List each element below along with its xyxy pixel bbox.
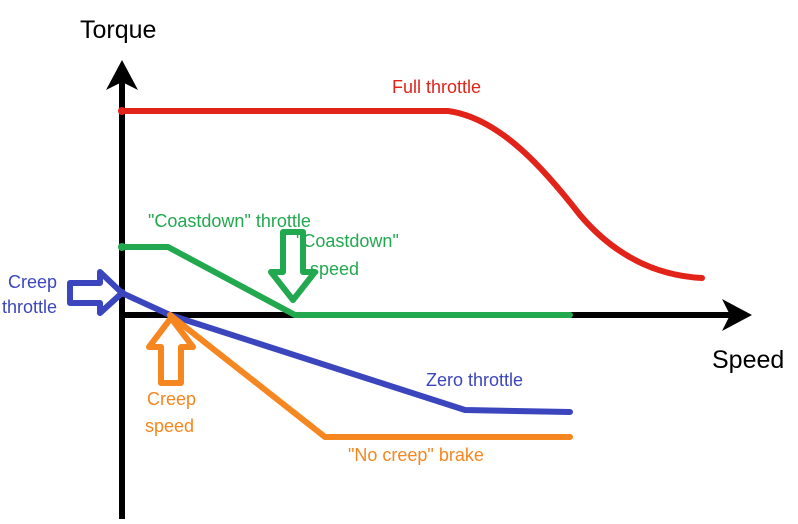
annotation-label-coastdown-speed-line2: speed: [310, 259, 359, 279]
annotation-label-creep-throttle-line2: throttle: [2, 297, 57, 317]
series-start-dot-full-throttle: [118, 107, 126, 115]
series-label-zero-throttle: Zero throttle: [426, 370, 523, 390]
annotation-label-coastdown-speed-line1: "Coastdown": [296, 231, 399, 251]
annotation-label-creep-speed-line1: Creep: [147, 389, 196, 409]
series-label-full-throttle: Full throttle: [392, 77, 481, 97]
x-axis-title: Speed: [712, 346, 784, 374]
annotation-label-creep-speed-line2: speed: [145, 416, 194, 436]
annotation-label-creep-throttle-line1: Creep: [8, 272, 57, 292]
annotation-creep-throttle: Creep throttle: [2, 272, 122, 317]
chart-canvas: Torque Speed Full throttle "Coastdown" t…: [0, 0, 798, 524]
y-axis-title: Torque: [80, 16, 156, 44]
series-label-coastdown-throttle: "Coastdown" throttle: [148, 211, 311, 231]
series-start-dot-coastdown: [118, 243, 126, 251]
series-label-no-creep-brake: "No creep" brake: [348, 445, 484, 465]
annotation-creep-speed: Creep speed: [145, 318, 196, 436]
arrow-right-icon: [70, 272, 122, 313]
torque-speed-chart: Torque Speed Full throttle "Coastdown" t…: [0, 0, 798, 524]
series-line-coastdown-throttle: [122, 247, 570, 315]
annotation-coastdown-speed: "Coastdown" speed: [271, 231, 399, 300]
series-line-full-throttle: [122, 111, 702, 278]
